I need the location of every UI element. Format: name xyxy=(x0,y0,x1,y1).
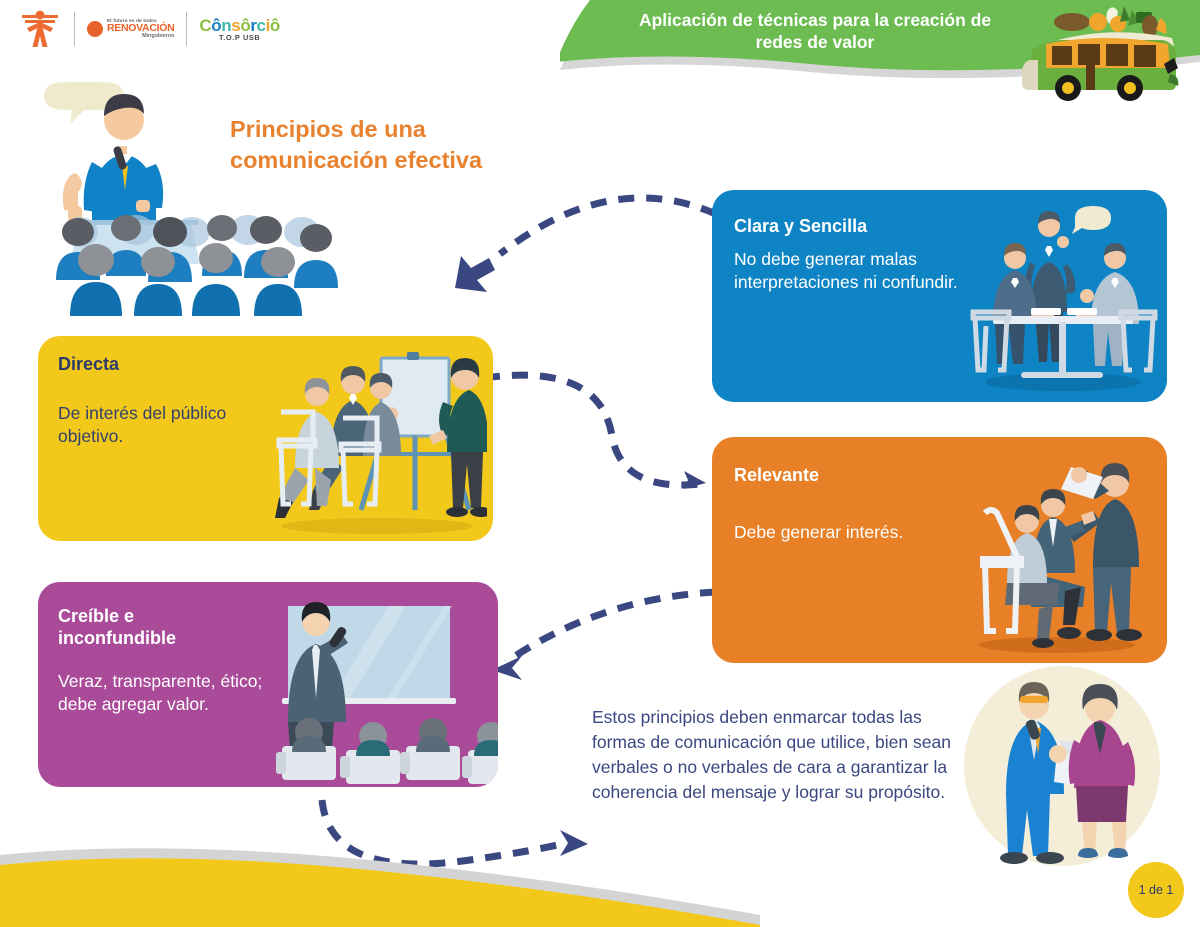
card-creible-e-inconfundible[interactable]: Creíble e inconfundible Veraz, transpare… xyxy=(38,582,498,787)
footer-wave xyxy=(0,837,760,927)
conference-speaker-screen-illustration xyxy=(272,598,498,787)
infographic-canvas: Aplicación de técnicas para la creación … xyxy=(0,0,1200,927)
card-clara-body: No debe generar malas interpretaciones n… xyxy=(734,248,969,294)
card-directa[interactable]: Directa De interés del público objetivo. xyxy=(38,336,493,541)
flipchart-presentation-illustration xyxy=(257,344,487,536)
card-directa-body: De interés del público objetivo. xyxy=(58,402,258,448)
two-presenters-circle-illustration xyxy=(962,666,1162,876)
card-relevante[interactable]: Relevante Debe generar interés. xyxy=(712,437,1167,663)
card-creible-body: Veraz, transparente, ético; debe agregar… xyxy=(58,670,268,716)
page-badge: 1 de 1 xyxy=(1128,862,1184,918)
meeting-table-discussion-illustration xyxy=(963,200,1163,400)
card-relevante-heading: Relevante xyxy=(734,465,819,487)
card-clara-heading: Clara y Sencilla xyxy=(734,216,867,238)
closing-paragraph: Estos principios deben enmarcar todas la… xyxy=(592,705,962,804)
card-clara-y-sencilla[interactable]: Clara y Sencilla No debe generar malas i… xyxy=(712,190,1167,402)
header-title-line1: Aplicación de técnicas para la creación … xyxy=(620,10,1010,54)
standing-speaker-seated-listener-illustration xyxy=(957,455,1157,655)
card-creible-heading: Creíble e inconfundible xyxy=(58,606,248,649)
card-relevante-body: Debe generar interés. xyxy=(734,521,924,544)
card-directa-heading: Directa xyxy=(58,354,119,376)
header-title: Aplicación de técnicas para la creación … xyxy=(620,10,1010,54)
